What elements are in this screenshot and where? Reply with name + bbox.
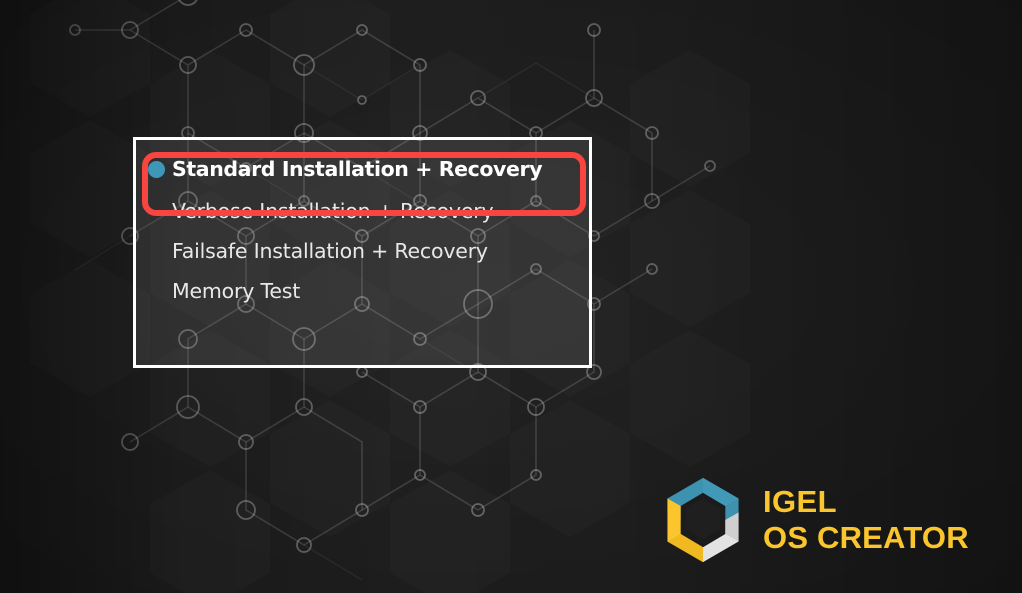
- boot-menu-item-memory-test[interactable]: Memory Test: [136, 271, 589, 311]
- boot-menu-item-label: Failsafe Installation + Recovery: [172, 241, 488, 262]
- boot-menu-item-label: Verbose Installation + Recovery: [172, 201, 493, 222]
- brand-text: IGEL OS CREATOR: [763, 484, 969, 556]
- boot-menu-item-standard-installation[interactable]: Standard Installation + Recovery: [136, 149, 589, 189]
- boot-screen: Standard Installation + Recovery Verbose…: [0, 0, 1022, 593]
- brand-logo-group: IGEL OS CREATOR: [661, 477, 969, 563]
- boot-menu-item-failsafe-installation[interactable]: Failsafe Installation + Recovery: [136, 231, 589, 271]
- boot-menu-panel: Standard Installation + Recovery Verbose…: [133, 137, 592, 368]
- boot-menu-item-label: Memory Test: [172, 281, 300, 302]
- boot-menu-list: Standard Installation + Recovery Verbose…: [136, 140, 589, 365]
- boot-menu-item-verbose-installation[interactable]: Verbose Installation + Recovery: [136, 191, 589, 231]
- radio-filled-icon: [148, 161, 165, 178]
- brand-name-line1: IGEL: [763, 484, 969, 520]
- brand-name-line2: OS CREATOR: [763, 520, 969, 556]
- boot-menu-item-label: Standard Installation + Recovery: [172, 159, 542, 180]
- igel-hexagon-logo-icon: [661, 477, 745, 563]
